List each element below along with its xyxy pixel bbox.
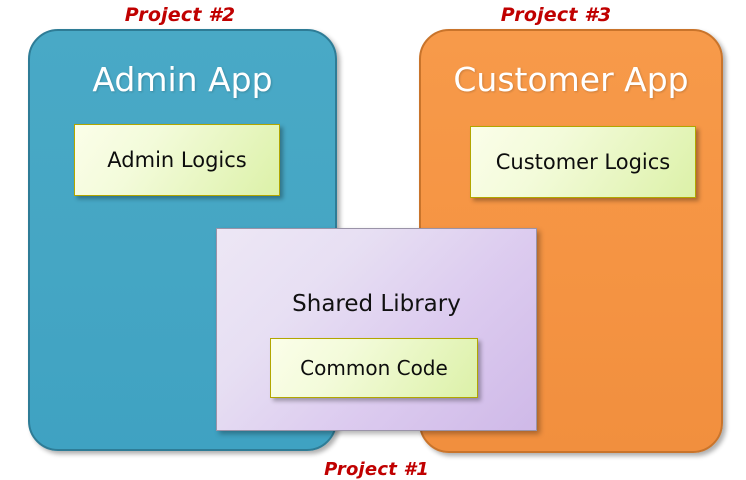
common-code-box: Common Code	[270, 338, 478, 398]
customer-logics-box: Customer Logics	[470, 126, 696, 198]
project-label-admin-app: Project #2	[0, 6, 360, 25]
admin-logics-box: Admin Logics	[74, 124, 280, 196]
common-code-label: Common Code	[300, 356, 448, 380]
customer-logics-label: Customer Logics	[496, 150, 671, 174]
diagram-canvas: Project #2 Project #3 Admin App Admin Lo…	[0, 0, 746, 472]
shared-library-container: Project #1 Shared Library	[216, 228, 537, 431]
admin-logics-label: Admin Logics	[107, 148, 246, 172]
project-label-shared-library: Project #1	[217, 461, 536, 479]
shared-library-title: Shared Library	[217, 291, 536, 317]
customer-app-title: Customer App	[421, 63, 721, 98]
project-label-customer-app: Project #3	[386, 6, 726, 25]
admin-app-title: Admin App	[30, 63, 335, 98]
